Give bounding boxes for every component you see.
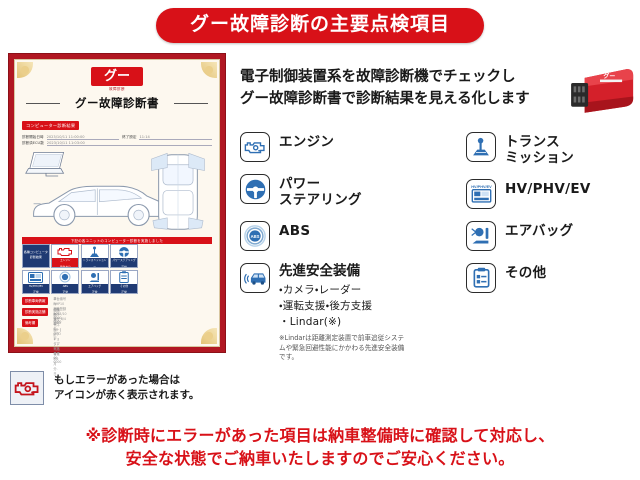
footer-note: ※診断時にエラーがあった項目は納車整備時に確認して対応し、 安全な状態でご納車い… xyxy=(0,424,640,470)
items-column-right: トランス ミッション HV/PHV/EV HV/PHV/EV xyxy=(466,132,640,305)
adas-block: 先進安全装備 ・カメラ・レーダー ・運転支援・後方支援 ・Lindar(※) ※… xyxy=(279,263,407,363)
item-adas[interactable]: 先進安全装備 ・カメラ・レーダー ・運転支援・後方支援 ・Lindar(※) ※… xyxy=(240,263,455,363)
item-hv-phv-ev[interactable]: HV/PHV/EV HV/PHV/EV xyxy=(466,179,640,209)
meta-value: 2023/10/11 11:00:00 xyxy=(47,135,120,140)
engine-icon xyxy=(244,139,266,155)
obd-scanner-icon: グー xyxy=(566,63,634,125)
error-note: もしエラーがあった場合は アイコンが赤く表示されます。 xyxy=(10,371,199,405)
result-cell: トランスミッション ー xyxy=(81,244,109,268)
hv-phv-ev-icon-box: HV/PHV/EV xyxy=(466,179,496,209)
clipboard-icon-box xyxy=(466,263,496,293)
meta-value-2: 11:14 xyxy=(139,135,212,140)
description-line-2: グー故障診断書で診断結果を見える化します xyxy=(240,88,570,110)
car-sensor-icon-box xyxy=(240,263,270,293)
corner-ornament-icon xyxy=(17,62,33,78)
result-cell: ABS 正常 xyxy=(51,270,79,294)
steering-wheel-icon xyxy=(245,179,266,200)
description-line-1: 電子制御装置系を故障診断機でチェックし xyxy=(240,66,570,88)
result-cell-icon xyxy=(111,271,137,284)
result-cell-icon xyxy=(82,271,108,284)
result-cell-icon xyxy=(52,245,78,258)
result-cell-status: 異常あり xyxy=(52,264,78,268)
result-cell-status: 正常 xyxy=(23,290,49,294)
result-cell: その他 正常 xyxy=(110,270,138,294)
adas-bullet-list: ・カメラ・レーダー ・運転支援・後方支援 ・Lindar(※) xyxy=(279,283,407,330)
airbag-icon xyxy=(88,272,101,283)
result-cell-status: 正常 xyxy=(52,290,78,294)
item-label-other: その他 xyxy=(505,263,546,281)
car-sensor-icon xyxy=(244,269,267,287)
adas-footnote: ※Lindarは距離測定装置で前車追従システムや緊急回避性能にかかわる先進安全装… xyxy=(279,334,407,363)
result-cell-status: 正常 xyxy=(82,290,108,294)
abs-brake-icon xyxy=(59,271,71,283)
certificate-meta-row: 診断開始日時 2023/10/11 11:00:00 終了設定 11:14 xyxy=(22,135,212,140)
result-cell-status: 正常 xyxy=(111,264,137,268)
clipboard-icon xyxy=(473,267,490,288)
corner-ornament-icon xyxy=(201,328,217,344)
goo-logo: グー xyxy=(91,67,143,86)
hv-phv-ev-icon xyxy=(28,272,43,283)
hv-phv-ev-icon: HV/PHV/EV xyxy=(470,183,493,204)
result-cell-icon xyxy=(23,271,49,284)
certificate-artwork xyxy=(22,149,212,235)
adas-bullet: ・運転支援・後方支援 xyxy=(279,299,407,315)
item-label-line-2: ステアリング xyxy=(279,192,362,208)
svg-text:グー: グー xyxy=(603,72,615,80)
certificate-form-row: 備考欄 xyxy=(22,319,212,327)
result-cell-icon xyxy=(111,245,137,258)
result-cell-status: 正常 xyxy=(111,290,137,294)
item-label-engine: エンジン xyxy=(279,132,334,150)
adas-bullet: ・カメラ・レーダー xyxy=(279,283,407,299)
item-label-abs: ABS xyxy=(279,221,310,239)
transmission-icon xyxy=(88,246,101,258)
result-cell: エアバッグ 正常 xyxy=(81,270,109,294)
transmission-icon xyxy=(471,137,491,158)
item-airbag[interactable]: エアバッグ xyxy=(466,221,640,251)
meta-label: 診断開始日時 xyxy=(22,135,44,140)
item-transmission[interactable]: トランス ミッション xyxy=(466,132,640,167)
certificate-form-row: 診断実施店舗 店舗名 【グーネット】GOOショップ 電話番号 00-0000 住… xyxy=(22,308,212,316)
error-note-line-2: アイコンが赤く表示されます。 xyxy=(54,388,199,403)
steering-wheel-icon-box xyxy=(240,174,270,204)
clipboard-icon xyxy=(119,271,129,283)
result-cell-icon xyxy=(82,245,108,258)
page-root: グー故障診断の主要点検項目 グー 故障診断 グー故障診断書 コンピューター診断結… xyxy=(0,0,640,480)
certificate-result-tag: コンピューター診断結果 xyxy=(22,121,79,130)
form-row-tag: 診断車両情報 xyxy=(22,297,48,305)
engine-error-icon xyxy=(14,379,40,397)
engine-icon-box xyxy=(240,132,270,162)
certificate-title: グー故障診断書 xyxy=(22,95,212,111)
corner-ornament-icon xyxy=(17,328,33,344)
item-abs[interactable]: ABS ABS xyxy=(240,221,455,251)
abs-brake-icon: ABS xyxy=(244,225,266,247)
adas-bullet: ・Lindar(※) xyxy=(279,315,407,331)
abs-brake-icon-box: ABS xyxy=(240,221,270,251)
car-top-view xyxy=(144,149,212,235)
item-engine[interactable]: エンジン xyxy=(240,132,455,162)
title-banner-wrap: グー故障診断の主要点検項目 xyxy=(0,8,640,43)
svg-text:ABS: ABS xyxy=(251,234,260,239)
engine-error-icon-box xyxy=(10,371,44,405)
footer-line-1: ※診断時にエラーがあった項目は納車整備時に確認して対応し、 xyxy=(0,424,640,447)
corner-ornament-icon xyxy=(201,62,217,78)
item-label-line-1: トランス xyxy=(505,134,574,150)
certificate-inner: グー 故障診断 グー故障診断書 コンピューター診断結果 診断開始日時 2023/… xyxy=(14,59,220,347)
form-line-text: 担当 000-0000-0000 xyxy=(53,307,62,324)
form-row-tag: 診断実施店舗 xyxy=(22,308,48,316)
item-other[interactable]: その他 xyxy=(466,263,640,293)
result-cell: エンジン 異常あり xyxy=(51,244,79,268)
error-note-line-1: もしエラーがあった場合は xyxy=(54,373,199,388)
footer-line-2: 安全な状態でご納車いたしますのでご安心ください。 xyxy=(0,447,640,470)
result-cell: 各種コンピュータ 診断結果 xyxy=(22,244,50,268)
result-cell: パワーステアリング 正常 xyxy=(110,244,138,268)
form-row-tag: 備考欄 xyxy=(22,319,38,327)
meta-label: 診断済ECU数 xyxy=(22,141,44,146)
certificate-result-grid: 各種コンピュータ 診断結果 エンジン 異常あり xyxy=(22,244,138,294)
meta-value: 2023/10/11 11:03:00 xyxy=(47,141,212,146)
item-label-transmission: トランス ミッション xyxy=(505,132,574,167)
item-power-steering[interactable]: パワー ステアリング xyxy=(240,174,455,209)
result-cell-label: 各種コンピュータ 診断結果 xyxy=(23,245,49,260)
transmission-icon-box xyxy=(466,132,496,162)
goo-logo-sub: 故障診断 xyxy=(22,87,212,92)
airbag-icon-box xyxy=(466,221,496,251)
item-label-line-1: パワー xyxy=(279,176,362,192)
diagnosis-certificate: グー 故障診断 グー故障診断書 コンピューター診断結果 診断開始日時 2023/… xyxy=(8,53,226,353)
certificate-form-row: 診断車両情報 メーカー・トヨタ 車名・アクア グレード 年式 和1 月 分-日 … xyxy=(22,297,212,305)
adas-title: 先進安全装備 xyxy=(279,263,407,279)
certificate-grid-header: 下記の各ユニットのコンピューター診断を実施しました xyxy=(22,237,212,244)
description-text: 電子制御装置系を故障診断機でチェックし グー故障診断書で診断結果を見える化します xyxy=(240,66,570,111)
result-cell-status: ー xyxy=(82,264,108,268)
title-banner: グー故障診断の主要点検項目 xyxy=(156,8,484,43)
steering-wheel-icon xyxy=(118,246,130,258)
engine-icon xyxy=(57,246,73,257)
certificate-meta-row: 診断済ECU数 2023/10/11 11:03:00 xyxy=(22,141,212,146)
item-label-hv-phv-ev: HV/PHV/EV xyxy=(505,179,591,197)
result-cell: HV/PHV/EV 正常 xyxy=(22,270,50,294)
svg-text:HV/PHV/EV: HV/PHV/EV xyxy=(471,186,492,190)
item-label-power-steering: パワー ステアリング xyxy=(279,174,362,209)
items-column-left: エンジン パワー ステアリング xyxy=(240,132,455,375)
error-note-text: もしエラーがあった場合は アイコンが赤く表示されます。 xyxy=(54,373,199,403)
item-label-airbag: エアバッグ xyxy=(505,221,573,239)
airbag-icon xyxy=(470,226,492,245)
meta-label-2: 終了設定 xyxy=(122,135,136,140)
result-cell-icon xyxy=(52,271,78,284)
item-label-line-2: ミッション xyxy=(505,150,574,166)
